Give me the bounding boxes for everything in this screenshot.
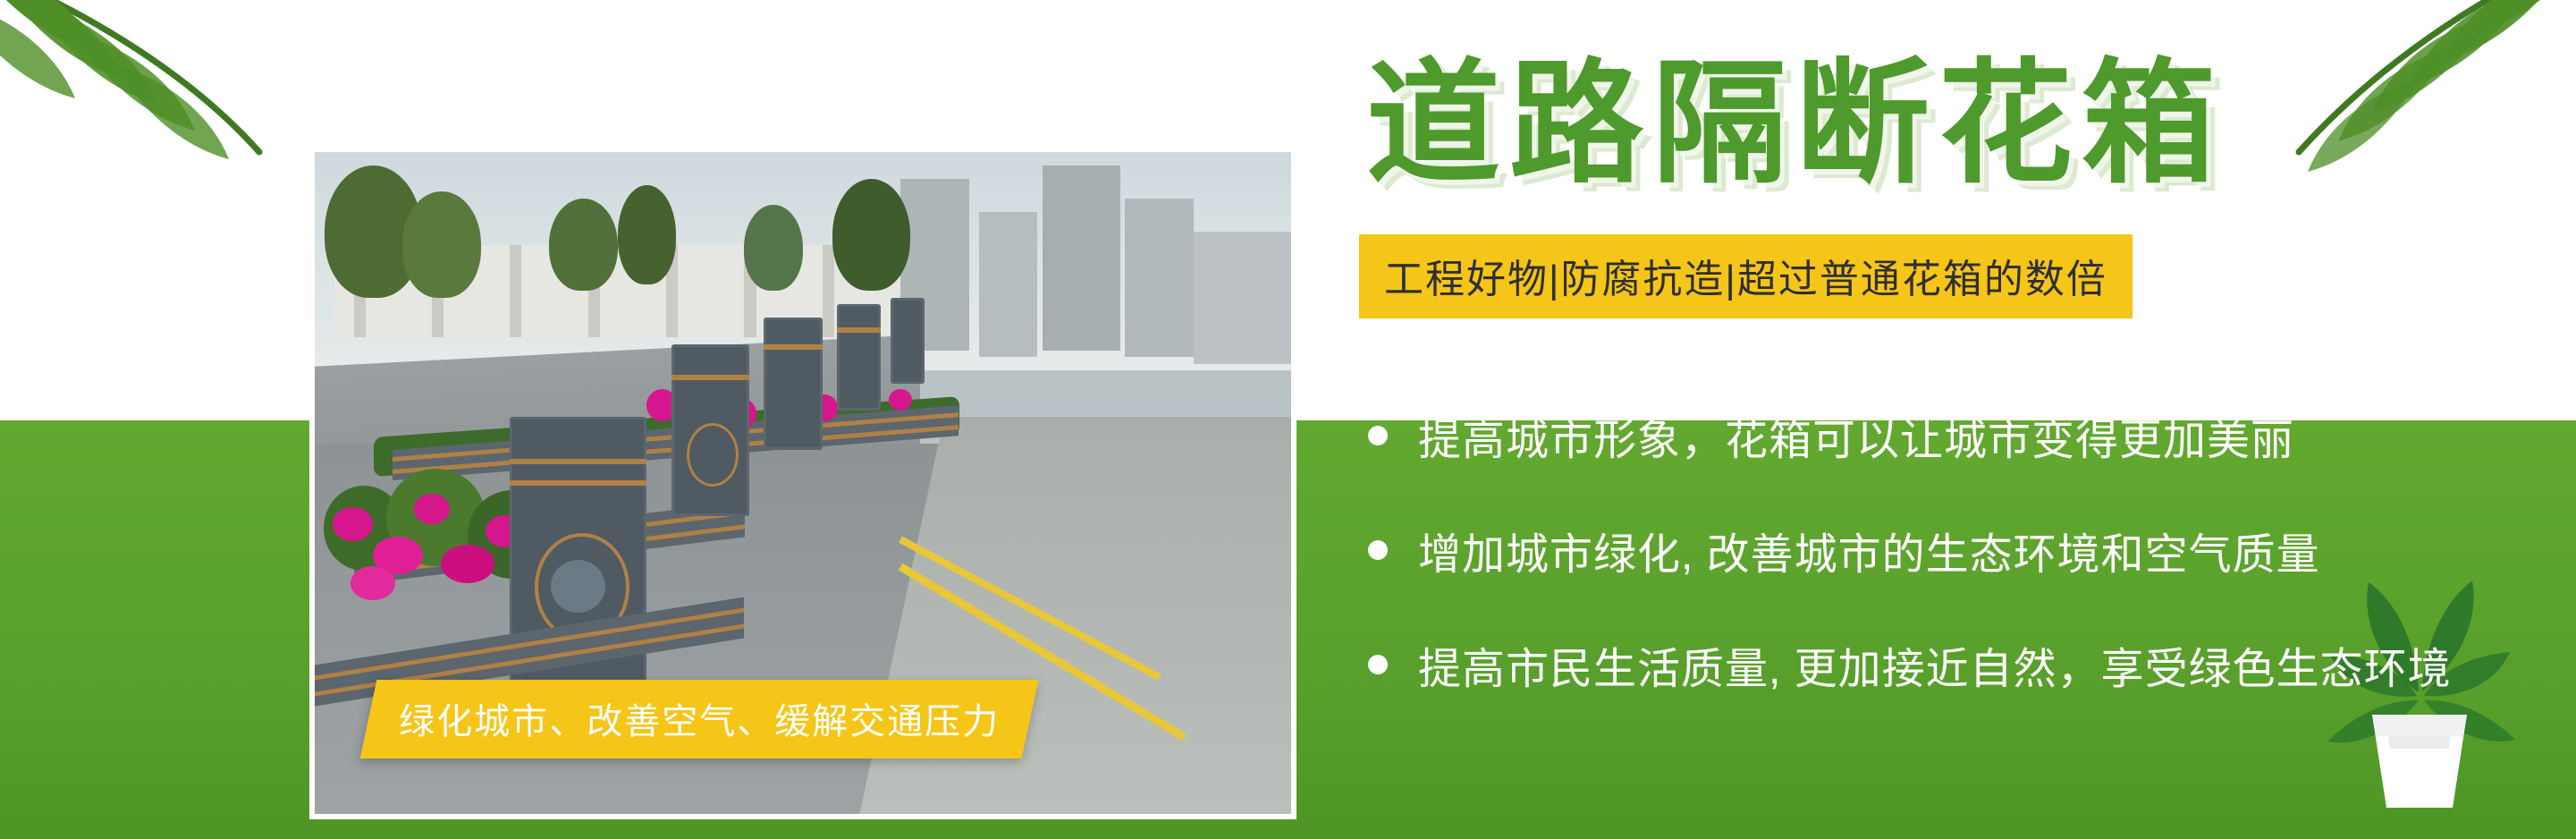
photo-tree — [402, 191, 480, 297]
feature-tagline: 工程好物|防腐抗造|超过普通花箱的数倍 — [1359, 234, 2133, 318]
palm-leaf-icon — [0, 0, 340, 246]
bullet-dot-icon — [1368, 426, 1388, 445]
photo-wall-gap — [823, 245, 834, 338]
list-item-label: 增加城市绿化, 改善城市的生态环境和空气质量 — [1418, 519, 2320, 581]
photo-building — [1125, 199, 1193, 358]
photo-tree — [832, 179, 910, 292]
list-item: 增加城市绿化, 改善城市的生态环境和空气质量 — [1359, 519, 2539, 581]
photo-building — [1194, 232, 1291, 364]
promo-banner: 绿化城市、改善空气、缓解交通压力 道路隔断花箱 工程好物|防腐抗造|超过普通花箱… — [0, 0, 2576, 839]
photo-caption-ribbon: 绿化城市、改善空气、缓解交通压力 — [360, 680, 1039, 758]
photo-tree — [549, 199, 617, 292]
photo-planter-box — [891, 298, 925, 384]
photo-planter-box — [764, 318, 823, 450]
photo-tree — [744, 205, 803, 291]
bullet-dot-icon — [1368, 540, 1388, 560]
photo-wall-gap — [510, 245, 521, 338]
bullet-dot-icon — [1368, 655, 1388, 674]
benefit-list: 提高城市形象，花箱可以让城市变得更加美丽 增加城市绿化, 改善城市的生态环境和空… — [1359, 404, 2539, 696]
photo-building — [1043, 165, 1120, 351]
photo-planter-box — [837, 304, 881, 410]
photo-planter-box — [671, 344, 749, 516]
page-title: 道路隔断花箱 — [1366, 54, 2539, 195]
photo-tree — [618, 185, 677, 284]
photo-caption-text: 绿化城市、改善空气、缓解交通压力 — [399, 692, 1000, 744]
list-item-label: 提高城市形象，花箱可以让城市变得更加美丽 — [1418, 404, 2294, 467]
list-item: 提高城市形象，花箱可以让城市变得更加美丽 — [1359, 404, 2539, 467]
list-item-label: 提高市民生活质量, 更加接近自然，享受绿色生态环境 — [1418, 633, 2452, 696]
banner-text-column: 道路隔断花箱 工程好物|防腐抗造|超过普通花箱的数倍 提高城市形象，花箱可以让城… — [1359, 54, 2539, 748]
list-item: 提高市民生活质量, 更加接近自然，享受绿色生态环境 — [1359, 633, 2539, 696]
